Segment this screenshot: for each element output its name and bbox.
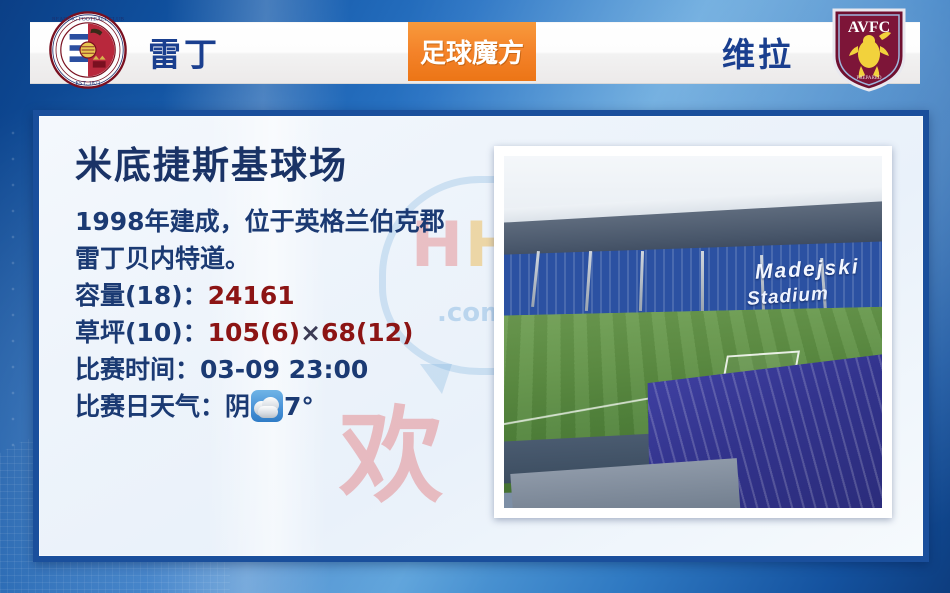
weather-condition: 阴 — [225, 392, 250, 421]
match-time-value: 03-09 23:00 — [200, 355, 368, 384]
overcast-cloud-icon — [251, 390, 283, 422]
pitch-multiply-sign: × — [300, 318, 321, 347]
stadium-title: 米底捷斯基球场 — [75, 146, 495, 187]
weather-label: 比赛日天气： — [75, 392, 225, 421]
stadium-info-panel: HHH .com 欢 米底捷斯基球场 1998年建成，位于英格兰伯克郡 雷丁贝内… — [33, 110, 929, 562]
match-stadium-infographic: READING FOOTBALL CLUB EST. 1871 雷丁 足球魔方 … — [0, 0, 950, 593]
match-time-row: 比赛时间：03-09 23:00 — [75, 351, 495, 388]
away-team-name: 维拉 — [722, 28, 794, 76]
home-team-name: 雷丁 — [148, 28, 220, 76]
stadium-photo-frame: Madejski Stadium — [494, 146, 892, 518]
pitch-width-value: 68(12) — [321, 318, 413, 347]
site-logo-text: 足球魔方 — [420, 33, 524, 70]
capacity-label: 容量(18)： — [75, 281, 208, 310]
match-time-label: 比赛时间： — [75, 355, 200, 384]
madejski-stadium-photo: Madejski Stadium — [504, 156, 882, 508]
svg-text:READING FOOTBALL CLUB: READING FOOTBALL CLUB — [52, 16, 124, 22]
weather-row: 比赛日天气：阴7° — [75, 388, 495, 425]
svg-text:PREPARED: PREPARED — [856, 76, 881, 81]
aston-villa-crest-icon: AVFC PREPARED — [830, 6, 908, 92]
site-logo[interactable]: 足球魔方 — [408, 22, 536, 81]
pitch-length-value: 105(6) — [208, 318, 300, 347]
capacity-row: 容量(18)：24161 — [75, 277, 495, 314]
stadium-description-line-2: 雷丁贝内特道。 — [75, 240, 495, 277]
weather-temperature: 7° — [284, 392, 314, 421]
stadium-description-line-1: 1998年建成，位于英格兰伯克郡 — [75, 203, 495, 240]
svg-text:EST. 1871: EST. 1871 — [75, 81, 100, 87]
pitch-row: 草坪(10)：105(6)×68(12) — [75, 314, 495, 351]
photo-roof-support-4 — [701, 251, 704, 311]
stadium-details: 米底捷斯基球场 1998年建成，位于英格兰伯克郡 雷丁贝内特道。 容量(18)：… — [75, 146, 495, 425]
reading-fc-crest-icon: READING FOOTBALL CLUB EST. 1871 — [48, 10, 128, 90]
capacity-value: 24161 — [208, 281, 295, 310]
pitch-label: 草坪(10)： — [75, 318, 208, 347]
